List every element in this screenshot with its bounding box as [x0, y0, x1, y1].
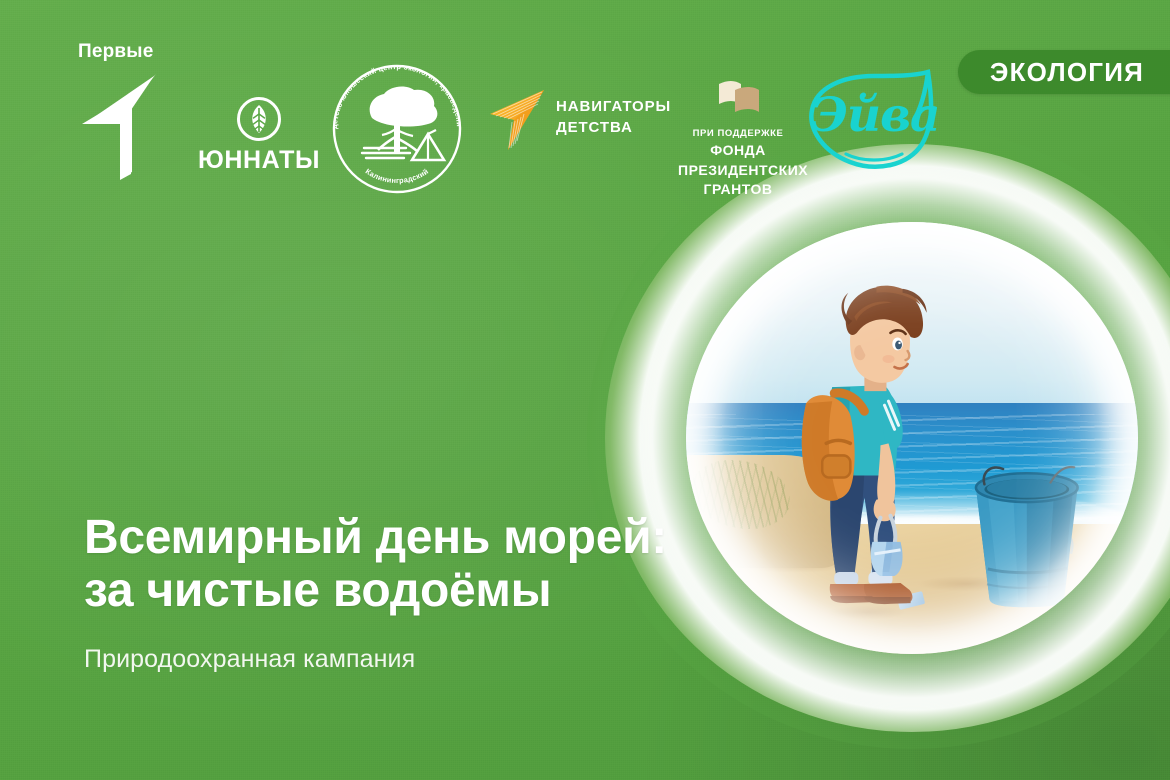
logo-presidential-grants: ПРИ ПОДДЕРЖКЕ ФОНДА ПРЕЗИДЕНТСКИХ ГРАНТО… [678, 78, 798, 190]
boy-figure [776, 274, 957, 637]
partner-logo-strip: Первые ЮННАТЫ [0, 0, 1170, 210]
logo-grants-line1: ФОНДА [678, 142, 798, 160]
category-badge-label: ЭКОЛОГИЯ [990, 59, 1144, 85]
logo-navigatory-detstva: НАВИГАТОРЫ ДЕТСТВА [484, 78, 670, 158]
logo-yunnaty-label: ЮННАТЫ [196, 146, 322, 175]
page-title: Всемирный день морей: за чистые водоёмы [84, 512, 774, 618]
orange-arrow-icon [484, 86, 554, 154]
leaf-outline-icon [800, 62, 950, 174]
category-badge[interactable]: ЭКОЛОГИЯ [958, 50, 1170, 94]
trash-bin [959, 447, 1095, 620]
logo-navigatory-label: НАВИГАТОРЫ ДЕТСТВА [556, 96, 671, 139]
page-subtitle: Природоохранная кампания [84, 644, 774, 674]
logo-navigatory-line2: ДЕТСТВА [556, 117, 671, 138]
page-title-line-1: Всемирный день морей: [84, 512, 774, 565]
logo-ayva: Эйва [800, 62, 950, 174]
logo-grants-support-label: ПРИ ПОДДЕРЖКЕ [678, 128, 798, 140]
logo-grants-line3: ГРАНТОВ [678, 181, 798, 199]
tree-and-tent-emblem-icon: областной детско-юношеский центр экологи… [324, 56, 470, 202]
logo-pervye: Первые [78, 42, 174, 182]
logo-navigatory-line1: НАВИГАТОРЫ [556, 96, 671, 117]
logo-grants-line2: ПРЕЗИДЕНТСКИХ [678, 162, 798, 180]
logo-kaliningrad-centre: областной детско-юношеский центр экологи… [324, 56, 470, 202]
logo-yunnaty: ЮННАТЫ [196, 96, 322, 178]
svg-text:Калининградский: Калининградский [364, 167, 431, 185]
logo-pervye-label: Первые [78, 42, 174, 61]
arrow-one-icon [78, 70, 162, 182]
ribbon-flag-icon [713, 78, 763, 120]
poster-canvas: Первые ЮННАТЫ [0, 0, 1170, 780]
leaf-in-circle-icon [236, 96, 282, 142]
page-title-line-2: за чистые водоёмы [84, 565, 774, 618]
headline-block: Всемирный день морей: за чистые водоёмы … [84, 512, 774, 674]
